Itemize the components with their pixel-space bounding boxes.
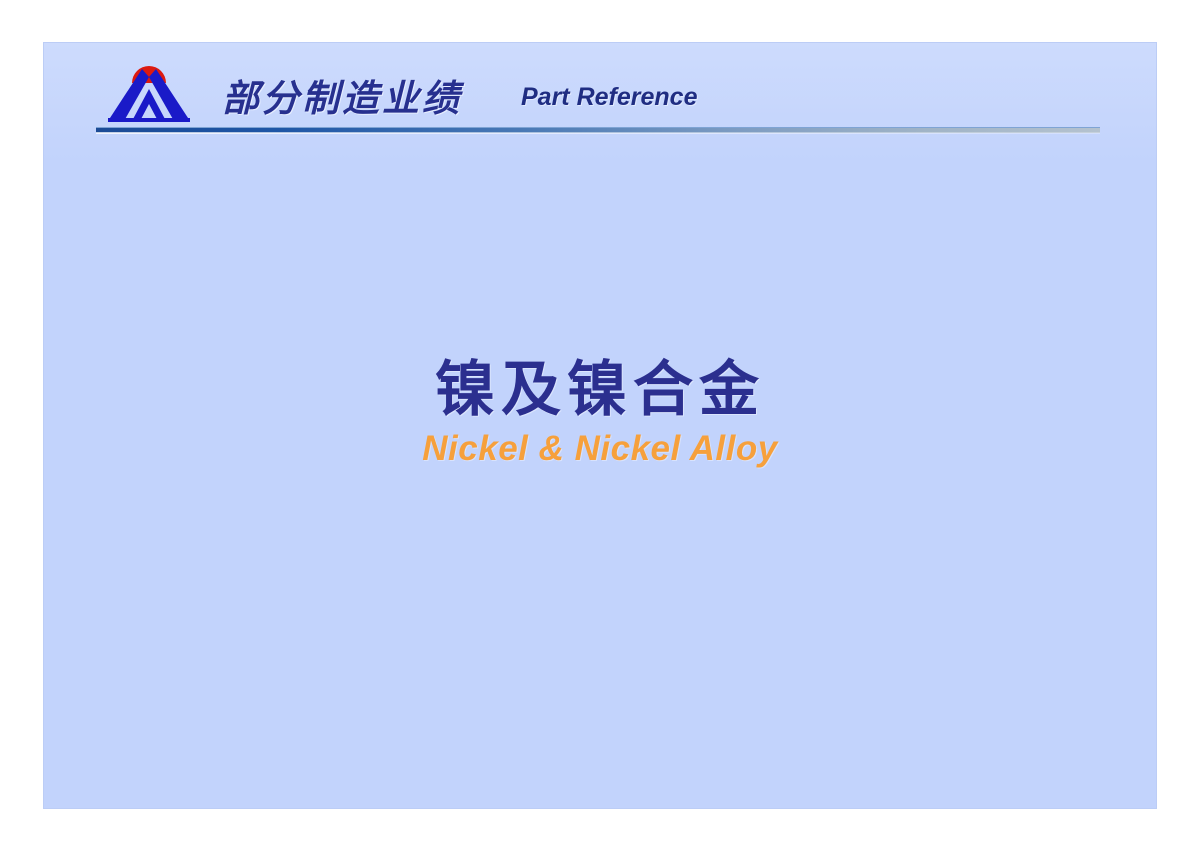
header-title-chinese: 部分制造业绩 — [222, 68, 462, 122]
header-divider-rule — [96, 127, 1100, 133]
slide-canvas: 部分制造业绩 Part Reference 镍及镍合金 Nickel & Nic… — [44, 43, 1156, 808]
divider-highlight — [96, 132, 1100, 134]
header-title-english: Part Reference — [521, 83, 697, 112]
page-subtitle-english: Nickel & Nickel Alloy — [44, 429, 1156, 469]
company-logo-icon — [104, 61, 194, 127]
page-title-chinese: 镍及镍合金 — [44, 341, 1156, 428]
